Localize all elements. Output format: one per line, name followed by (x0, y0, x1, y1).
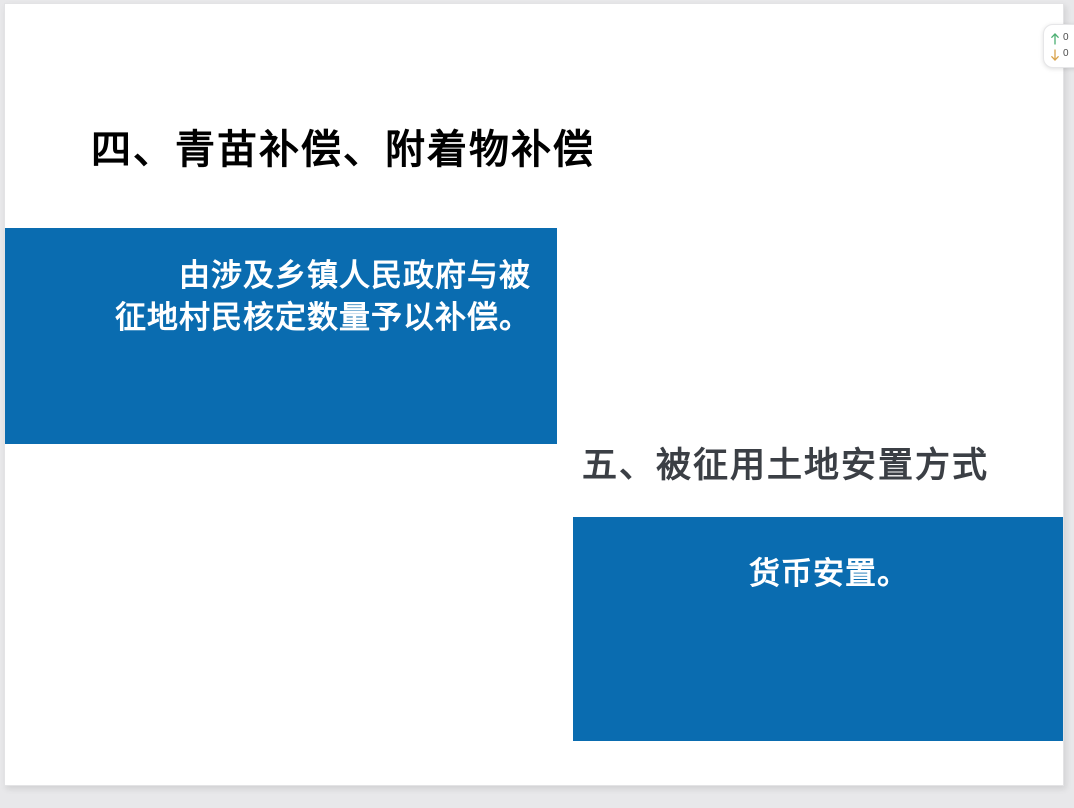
content-block-1-line-1: 由涉及乡镇人民政府与被 (63, 255, 543, 297)
arrow-up-icon[interactable] (1050, 32, 1060, 44)
content-block-1-text: 由涉及乡镇人民政府与被 征地村民核定数量予以补偿。 (63, 255, 543, 339)
section-heading-1: 四、青苗补偿、附着物补偿 (91, 130, 595, 170)
downvote-count: 0 (1063, 49, 1069, 59)
upvote-count: 0 (1063, 33, 1069, 43)
content-block-1-line-2: 征地村民核定数量予以补偿。 (63, 297, 543, 339)
content-block-2: 货币安置。 (573, 517, 1064, 741)
vote-widget[interactable]: 0 0 (1043, 24, 1074, 68)
content-block-1: 由涉及乡镇人民政府与被 征地村民核定数量予以补偿。 (4, 228, 557, 444)
arrow-down-icon[interactable] (1050, 48, 1060, 60)
document-page: 四、青苗补偿、附着物补偿 由涉及乡镇人民政府与被 征地村民核定数量予以补偿。 五… (4, 3, 1064, 786)
downvote-row[interactable]: 0 (1050, 46, 1074, 62)
section-heading-2: 五、被征用土地安置方式 (582, 448, 989, 483)
upvote-row[interactable]: 0 (1050, 30, 1074, 46)
content-block-2-text: 货币安置。 (573, 553, 1064, 595)
